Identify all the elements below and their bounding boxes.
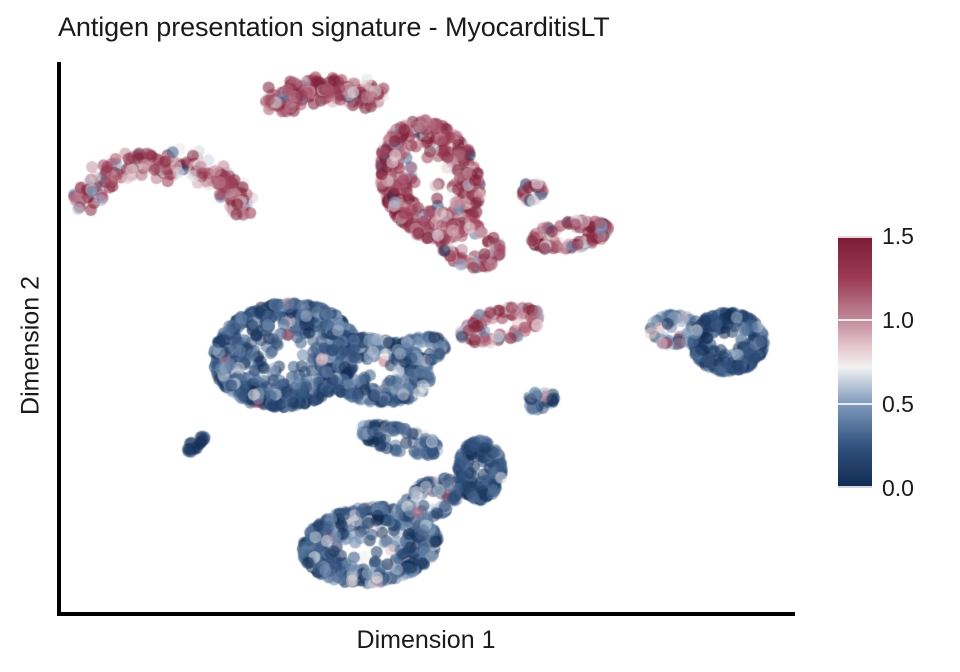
colorbar-label-0.5: 0.5 (882, 393, 914, 416)
colorbar-tick-1.5 (838, 236, 872, 238)
scatter-points-canvas (61, 62, 795, 612)
colorbar-gradient (838, 236, 872, 488)
x-axis-label: Dimension 1 (57, 626, 795, 655)
colorbar-label-0.0: 0.0 (882, 477, 914, 500)
y-axis-line (57, 62, 61, 616)
page-title: Antigen presentation signature - Myocard… (58, 12, 610, 43)
colorbar-tick-1.0 (838, 319, 872, 321)
colorbar-legend: 1.51.00.50.0 (838, 236, 954, 492)
scatter-plot-figure: Antigen presentation signature - Myocard… (0, 0, 960, 672)
colorbar-label-1.5: 1.5 (882, 225, 914, 248)
colorbar-label-1.0: 1.0 (882, 309, 914, 332)
colorbar-tick-0.5 (838, 403, 872, 405)
colorbar-tick-0.0 (838, 486, 872, 488)
y-axis-label: Dimension 2 (17, 69, 46, 623)
x-axis-line (57, 612, 795, 616)
plot-panel (61, 62, 795, 612)
